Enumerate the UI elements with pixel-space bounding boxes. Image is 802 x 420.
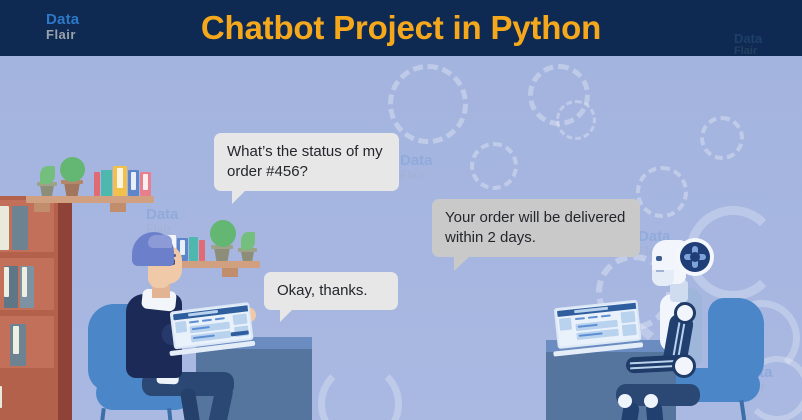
header-banner: Data Flair Chatbot Project in Python Dat… bbox=[0, 0, 802, 56]
avatar-placeholder bbox=[175, 321, 187, 333]
binder-label bbox=[131, 172, 136, 190]
binder-label bbox=[143, 174, 148, 190]
sidebar-card bbox=[232, 313, 247, 325]
shelf-bracket bbox=[110, 203, 126, 212]
robot-knee-joint bbox=[618, 394, 632, 408]
gear-hub-icon bbox=[690, 252, 700, 262]
speech-bubble-customer-question: What’s the status of my order #456? bbox=[214, 133, 399, 191]
nav-item bbox=[601, 314, 611, 317]
laptop-screen-right bbox=[554, 300, 642, 350]
nav-item bbox=[202, 319, 212, 322]
binder bbox=[0, 206, 9, 250]
gear-icon bbox=[556, 100, 596, 140]
binder-label bbox=[22, 267, 27, 297]
robot-eye bbox=[656, 256, 662, 261]
wall-shelf-upper bbox=[26, 196, 154, 203]
speech-bubble-tail bbox=[232, 190, 246, 204]
plant-pot bbox=[38, 182, 56, 196]
shelf-bracket bbox=[34, 203, 50, 212]
gear-icon bbox=[700, 116, 744, 160]
stage-watermark-line-1: Data bbox=[400, 152, 433, 169]
binder-label bbox=[13, 326, 19, 354]
page-title: Chatbot Project in Python bbox=[0, 0, 802, 56]
sidebar-card bbox=[622, 324, 637, 336]
screenshot-root: Data Flair Chatbot Project in Python Dat… bbox=[0, 0, 802, 420]
header-watermark: Data Flair bbox=[712, 30, 798, 56]
robot-knee-joint bbox=[644, 394, 658, 408]
binder-label bbox=[117, 168, 123, 188]
speech-bubble-text: Okay, thanks. bbox=[277, 282, 368, 299]
speech-bubble-text: Your order will be delivered within 2 da… bbox=[445, 209, 625, 246]
illustration-stage: Data Flair Data Flair Data Flair Da bbox=[0, 56, 802, 420]
speech-bubble-tail bbox=[454, 256, 470, 271]
speech-bubble-bot-reply: Your order will be delivered within 2 da… bbox=[432, 199, 640, 257]
bookcase bbox=[0, 196, 72, 420]
speech-bubble-tail bbox=[280, 309, 293, 322]
robot-jaw bbox=[652, 270, 674, 286]
robot-shoulder-joint bbox=[674, 302, 696, 324]
gear-icon bbox=[318, 362, 402, 420]
binder-label bbox=[4, 267, 9, 297]
laptop-left[interactable] bbox=[170, 303, 251, 356]
plant-foliage bbox=[60, 157, 85, 182]
nav-item bbox=[189, 320, 199, 323]
chair-leg bbox=[94, 408, 106, 420]
person-hair-highlight bbox=[148, 235, 172, 248]
gear-icon bbox=[470, 142, 518, 190]
cabinet-handle bbox=[0, 386, 2, 408]
speech-bubble-text: What’s the status of my order #456? bbox=[227, 143, 383, 180]
stage-watermark-line-2: Flair bbox=[400, 168, 425, 182]
robot-mouth bbox=[656, 270, 664, 272]
speech-bubble-customer-thanks: Okay, thanks. bbox=[264, 272, 398, 310]
book bbox=[94, 172, 100, 196]
nav-item bbox=[575, 317, 585, 320]
robot-elbow-joint bbox=[672, 354, 696, 378]
laptop-right[interactable] bbox=[554, 300, 639, 356]
watermark-circle-icon bbox=[712, 32, 734, 54]
book bbox=[101, 170, 112, 196]
bookcase-side-panel bbox=[58, 196, 72, 420]
plant-foliage bbox=[40, 166, 55, 184]
sidebar-card bbox=[620, 311, 635, 323]
plant-pot bbox=[62, 180, 82, 196]
binder bbox=[12, 206, 28, 250]
header-watermark-line-2: Flair bbox=[734, 45, 757, 56]
bookcase-shelf bbox=[0, 316, 54, 368]
nav-item bbox=[215, 317, 225, 320]
gear-icon bbox=[388, 64, 468, 144]
avatar-placeholder bbox=[559, 318, 572, 331]
gear-icon bbox=[636, 166, 688, 218]
bookcase-cabinet-door bbox=[0, 374, 54, 420]
nav-item bbox=[588, 316, 598, 319]
stage-watermark-line-1: Data bbox=[146, 206, 179, 223]
header-watermark-line-1: Data bbox=[734, 31, 762, 46]
person-jaw bbox=[148, 272, 170, 288]
